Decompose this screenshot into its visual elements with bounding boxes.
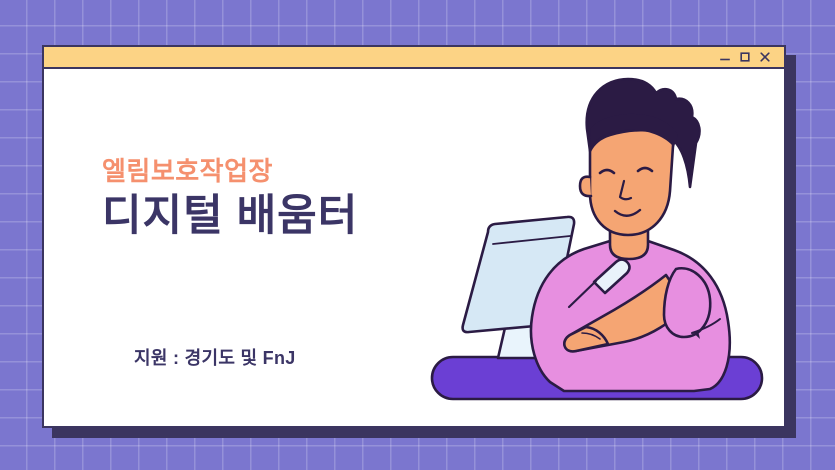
shirt-cuff [664,268,710,337]
window-title-bar [44,47,784,69]
window-body: 엘림보호작업장 디지털 배움터 지원 : 경기도 및 FnJ [44,69,784,426]
close-icon [758,50,772,64]
slide-stage: 엘림보호작업장 디지털 배움터 지원 : 경기도 및 FnJ [0,0,835,470]
app-window: 엘림보호작업장 디지털 배움터 지원 : 경기도 및 FnJ [42,45,786,428]
head [590,125,674,235]
minimize-icon [718,50,732,64]
maximize-button[interactable] [736,48,754,66]
illustration-person-writing-on-tablet [424,69,784,426]
close-button[interactable] [756,48,774,66]
maximize-icon [738,50,752,64]
slide-credit: 지원 : 경기도 및 FnJ [134,344,296,370]
ear [580,177,591,196]
minimize-button[interactable] [716,48,734,66]
